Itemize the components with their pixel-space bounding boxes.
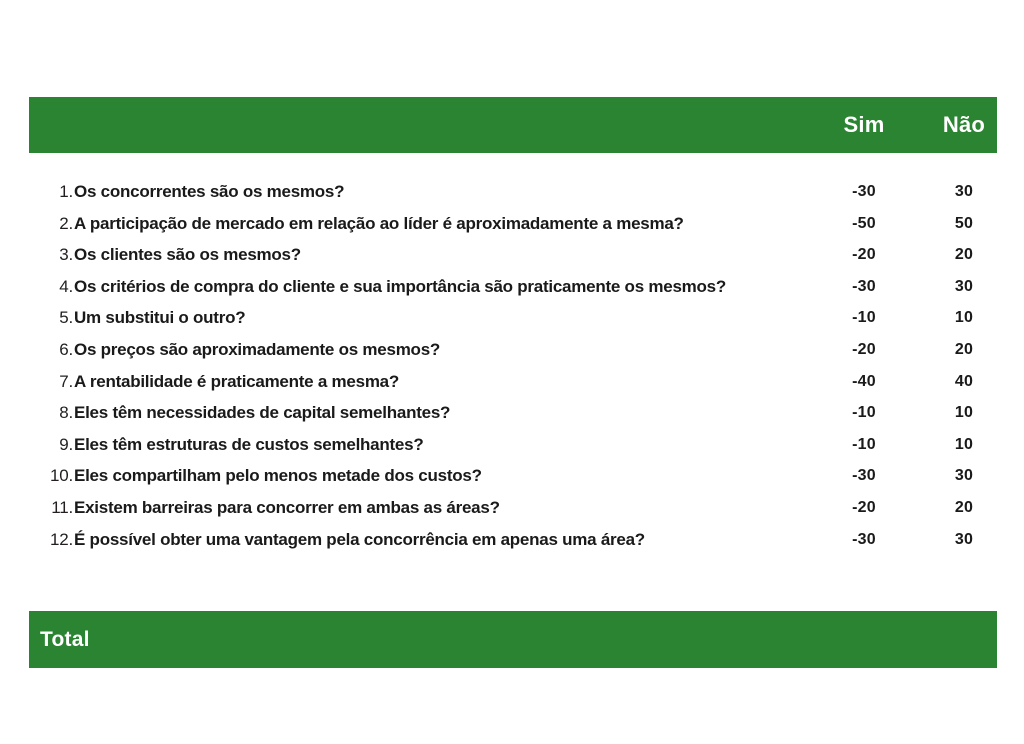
row-question: A participação de mercado em relação ao … xyxy=(74,208,684,240)
row-number: 2. xyxy=(29,208,73,240)
row-number: 9. xyxy=(29,429,73,461)
row-value-sim: -30 xyxy=(819,176,909,208)
row-value-sim: -10 xyxy=(819,302,909,334)
row-number: 6. xyxy=(29,334,73,366)
table-row: 6. Os preços são aproximadamente os mesm… xyxy=(29,334,997,366)
row-number: 4. xyxy=(29,271,73,303)
row-question: Eles compartilham pelo menos metade dos … xyxy=(74,460,482,492)
row-value-sim: -10 xyxy=(819,397,909,429)
table-header-bar: Sim Não xyxy=(29,97,997,153)
row-question: Eles têm estruturas de custos semelhante… xyxy=(74,429,423,461)
worksheet-page: Sim Não 1. Os concorrentes são os mesmos… xyxy=(0,0,1024,744)
row-question: Existem barreiras para concorrer em amba… xyxy=(74,492,500,524)
row-value-sim: -20 xyxy=(819,239,909,271)
table-row: 8. Eles têm necessidades de capital seme… xyxy=(29,397,997,429)
row-value-nao: 30 xyxy=(919,524,1009,556)
row-value-sim: -30 xyxy=(819,460,909,492)
row-value-sim: -20 xyxy=(819,492,909,524)
row-value-nao: 10 xyxy=(919,429,1009,461)
row-number: 11. xyxy=(29,492,73,524)
row-number: 5. xyxy=(29,302,73,334)
table-row: 3. Os clientes são os mesmos? -20 20 xyxy=(29,239,997,271)
table-row: 4. Os critérios de compra do cliente e s… xyxy=(29,271,997,303)
row-number: 8. xyxy=(29,397,73,429)
row-value-nao: 20 xyxy=(919,239,1009,271)
table-row: 11. Existem barreiras para concorrer em … xyxy=(29,492,997,524)
row-question: A rentabilidade é praticamente a mesma? xyxy=(74,366,399,398)
row-value-nao: 30 xyxy=(919,460,1009,492)
row-number: 1. xyxy=(29,176,73,208)
row-question: Um substitui o outro? xyxy=(74,302,245,334)
row-number: 12. xyxy=(29,524,73,556)
row-value-nao: 40 xyxy=(919,366,1009,398)
row-value-nao: 30 xyxy=(919,271,1009,303)
table-row: 9. Eles têm estruturas de custos semelha… xyxy=(29,429,997,461)
row-question: Eles têm necessidades de capital semelha… xyxy=(74,397,450,429)
total-value-nao xyxy=(919,611,1009,668)
row-question: Os clientes são os mesmos? xyxy=(74,239,301,271)
row-value-sim: -10 xyxy=(819,429,909,461)
column-header-sim: Sim xyxy=(819,97,909,153)
row-value-nao: 10 xyxy=(919,302,1009,334)
row-value-sim: -40 xyxy=(819,366,909,398)
row-value-sim: -50 xyxy=(819,208,909,240)
question-rows: 1. Os concorrentes são os mesmos? -30 30… xyxy=(29,176,997,555)
table-row: 2. A participação de mercado em relação … xyxy=(29,208,997,240)
row-question: Os critérios de compra do cliente e sua … xyxy=(74,271,726,303)
row-value-nao: 50 xyxy=(919,208,1009,240)
total-bar: Total xyxy=(29,611,997,668)
row-number: 3. xyxy=(29,239,73,271)
total-value-sim xyxy=(819,611,909,668)
row-value-nao: 20 xyxy=(919,334,1009,366)
row-question: É possível obter uma vantagem pela conco… xyxy=(74,524,645,556)
total-label: Total xyxy=(40,611,90,668)
row-value-sim: -20 xyxy=(819,334,909,366)
row-value-nao: 20 xyxy=(919,492,1009,524)
table-row: 12. É possível obter uma vantagem pela c… xyxy=(29,524,997,556)
row-number: 10. xyxy=(29,460,73,492)
row-value-nao: 30 xyxy=(919,176,1009,208)
row-value-sim: -30 xyxy=(819,524,909,556)
table-row: 5. Um substitui o outro? -10 10 xyxy=(29,302,997,334)
row-value-sim: -30 xyxy=(819,271,909,303)
row-number: 7. xyxy=(29,366,73,398)
column-header-nao: Não xyxy=(919,97,1009,153)
row-question: Os preços são aproximadamente os mesmos? xyxy=(74,334,440,366)
table-row: 1. Os concorrentes são os mesmos? -30 30 xyxy=(29,176,997,208)
row-question: Os concorrentes são os mesmos? xyxy=(74,176,344,208)
row-value-nao: 10 xyxy=(919,397,1009,429)
table-row: 10. Eles compartilham pelo menos metade … xyxy=(29,460,997,492)
table-row: 7. A rentabilidade é praticamente a mesm… xyxy=(29,366,997,398)
